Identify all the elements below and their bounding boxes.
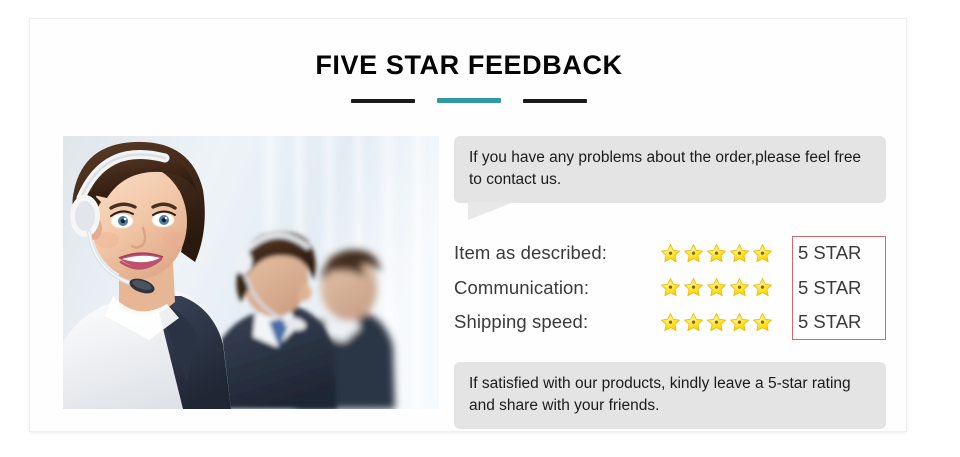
closing-message-wrap: If satisfied with our products, kindly l…: [454, 362, 886, 429]
closing-message-bubble: If satisfied with our products, kindly l…: [454, 362, 886, 429]
rating-stars-shipping-speed: [660, 312, 782, 333]
rating-stars-item-as-described: [660, 243, 782, 264]
star-icon: [729, 312, 750, 333]
rating-value: 5 STAR: [782, 242, 861, 264]
feedback-content-column: If you have any problems about the order…: [454, 136, 886, 429]
feedback-card: FIVE STAR FEEDBACK: [29, 18, 907, 432]
star-icon: [660, 277, 681, 298]
customer-service-photo: [63, 136, 439, 409]
star-icon: [706, 277, 727, 298]
star-icon: [706, 312, 727, 333]
star-icon: [752, 243, 773, 264]
star-icon: [729, 243, 750, 264]
contact-message-text: If you have any problems about the order…: [469, 149, 861, 188]
star-icon: [752, 312, 773, 333]
rating-value: 5 STAR: [782, 311, 861, 333]
ratings-list: Item as described: 5 STAR Communication:: [454, 236, 886, 340]
star-icon: [660, 312, 681, 333]
star-icon: [729, 277, 750, 298]
divider-left-icon: [351, 99, 415, 103]
star-icon: [683, 277, 704, 298]
photo-illustration: [63, 136, 439, 409]
star-icon: [752, 277, 773, 298]
star-icon: [660, 243, 681, 264]
rating-row-item-as-described: Item as described: 5 STAR: [454, 236, 886, 271]
feedback-banner: FIVE STAR FEEDBACK: [0, 0, 960, 457]
page-title: FIVE STAR FEEDBACK: [30, 51, 908, 81]
rating-row-shipping-speed: Shipping speed: 5 STAR: [454, 305, 886, 340]
divider-center-accent-icon: [437, 98, 501, 103]
title-divider-group: [30, 98, 908, 103]
rating-value: 5 STAR: [782, 277, 861, 299]
rating-label: Shipping speed:: [454, 311, 660, 333]
rating-row-communication: Communication: 5 STAR: [454, 271, 886, 306]
header-title-block: FIVE STAR FEEDBACK: [30, 51, 908, 81]
rating-label: Item as described:: [454, 242, 660, 264]
star-icon: [683, 243, 704, 264]
closing-message-text: If satisfied with our products, kindly l…: [469, 375, 851, 414]
rating-label: Communication:: [454, 277, 660, 299]
rating-stars-communication: [660, 277, 782, 298]
divider-right-icon: [523, 99, 587, 103]
star-icon: [683, 312, 704, 333]
contact-message-bubble: If you have any problems about the order…: [454, 136, 886, 203]
star-icon: [706, 243, 727, 264]
